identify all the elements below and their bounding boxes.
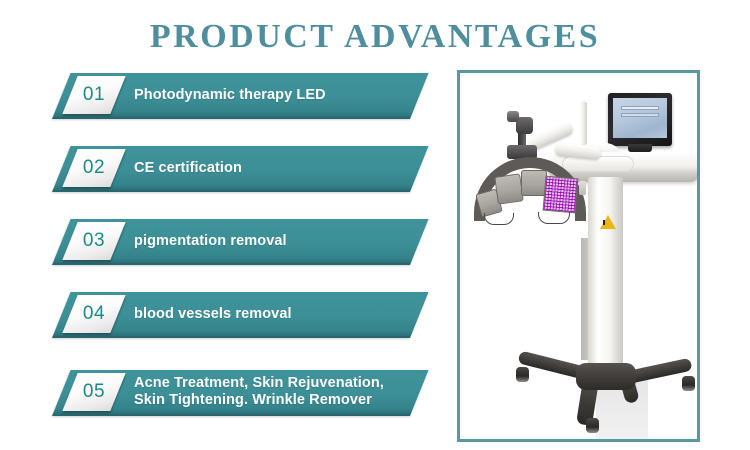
hood-handle [538, 212, 570, 224]
touchscreen-monitor [608, 93, 672, 146]
advantage-number: 02 [70, 149, 118, 187]
base-hub [576, 363, 636, 390]
arm-joint [507, 111, 519, 122]
screen-ui-bar [621, 113, 659, 117]
hood-handle [484, 213, 514, 225]
advantage-number: 05 [70, 373, 118, 411]
advantage-item-02[interactable]: 02 CE certification [52, 146, 410, 190]
advantage-number: 01 [70, 76, 118, 114]
advantage-label: pigmentation removal [134, 219, 404, 263]
column-clip [579, 181, 586, 195]
advantage-number: 04 [70, 295, 118, 333]
advantage-label: CE certification [134, 146, 404, 190]
page-title: PRODUCT ADVANTAGES [0, 18, 750, 56]
product-image-frame [457, 70, 700, 442]
advantage-item-01[interactable]: 01 Photodynamic therapy LED [52, 73, 410, 117]
advantage-label: blood vessels removal [134, 292, 404, 336]
advantages-list: 01 Photodynamic therapy LED 02 CE certif… [0, 68, 450, 448]
castor-wheel [682, 376, 695, 391]
hood-panel [494, 173, 524, 204]
castor-wheel [516, 367, 529, 382]
trolley-column [588, 177, 623, 373]
monitor-screen [613, 98, 667, 138]
led-array-panel [543, 176, 579, 214]
product-advantages-page: PRODUCT ADVANTAGES 01 Photodynamic thera… [0, 0, 750, 450]
screen-ui-bar [621, 106, 659, 110]
advantage-label-line1: pigmentation removal [134, 233, 287, 250]
monitor-foot [628, 144, 652, 152]
product-image [460, 73, 697, 439]
advantage-label-line1: CE certification [134, 160, 242, 177]
advantage-item-03[interactable]: 03 pigmentation removal [52, 219, 410, 263]
advantage-label: Photodynamic therapy LED [134, 73, 404, 117]
advantage-label-line2: Skin Tightening. Wrinkle Remover [134, 392, 372, 409]
advantage-label-line1: Acne Treatment, Skin Rejuvenation, [134, 375, 384, 392]
led-light-hood [474, 157, 586, 221]
advantage-label-line1: blood vessels removal [134, 306, 292, 323]
advantage-item-04[interactable]: 04 blood vessels removal [52, 292, 410, 336]
advantage-label: Acne Treatment, Skin Rejuvenation, Skin … [134, 370, 404, 414]
advantage-number: 03 [70, 222, 118, 260]
advantage-item-05[interactable]: 05 Acne Treatment, Skin Rejuvenation, Sk… [52, 370, 410, 414]
castor-wheel [586, 418, 599, 433]
warning-triangle-icon [600, 215, 616, 229]
advantage-label-line1: Photodynamic therapy LED [134, 87, 326, 104]
